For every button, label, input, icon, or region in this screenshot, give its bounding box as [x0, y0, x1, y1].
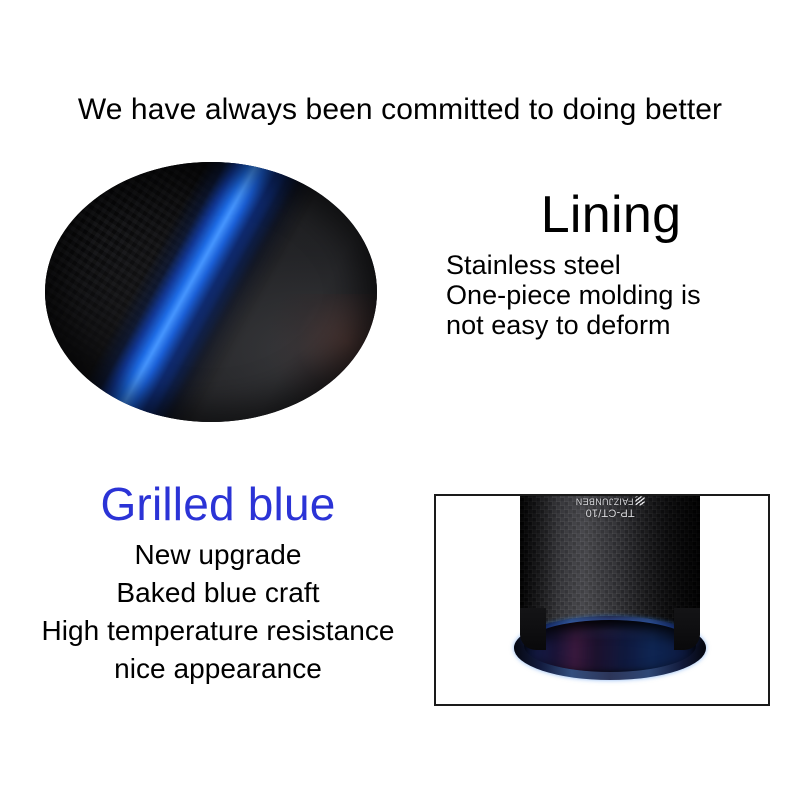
tube-lip-left — [520, 608, 546, 650]
product-model-code: TP-CT/10 — [575, 506, 644, 518]
marketing-image-canvas: We have always been committed to doing b… — [0, 0, 800, 800]
product-branding: TP-CT/10 FAIZJUNBEN — [575, 496, 644, 518]
oval-vignette — [45, 162, 377, 422]
tube-lip-right — [674, 608, 700, 650]
grilled-blue-line-4: nice appearance — [8, 650, 428, 688]
exhaust-bore-opening — [524, 620, 696, 672]
brand-row: FAIZJUNBEN — [575, 496, 644, 506]
product-photo-frame: TP-CT/10 FAIZJUNBEN — [434, 494, 770, 706]
bore-inner-shadow — [524, 620, 696, 672]
lining-line-1: Stainless steel — [446, 250, 776, 280]
lining-title: Lining — [446, 186, 776, 244]
lining-description: Stainless steel One-piece molding is not… — [446, 250, 776, 340]
lining-section: Lining Stainless steel One-piece molding… — [446, 186, 776, 340]
lining-line-2: One-piece molding is — [446, 280, 776, 310]
product-brand-name: FAIZJUNBEN — [575, 496, 633, 506]
lining-line-3: not easy to deform — [446, 310, 776, 340]
grilled-blue-section: Grilled blue New upgrade Baked blue craf… — [8, 478, 428, 688]
grilled-blue-description: New upgrade Baked blue craft High temper… — [8, 536, 428, 688]
exhaust-tip-illustration: TP-CT/10 FAIZJUNBEN — [436, 496, 768, 704]
grilled-blue-line-2: Baked blue craft — [8, 574, 428, 612]
grilled-blue-line-1: New upgrade — [8, 536, 428, 574]
oval-macro-photo — [45, 162, 377, 422]
grilled-blue-title: Grilled blue — [8, 478, 428, 530]
grilled-blue-line-3: High temperature resistance — [8, 612, 428, 650]
page-headline: We have always been committed to doing b… — [0, 93, 800, 127]
striped-square-logo-icon — [636, 497, 645, 506]
